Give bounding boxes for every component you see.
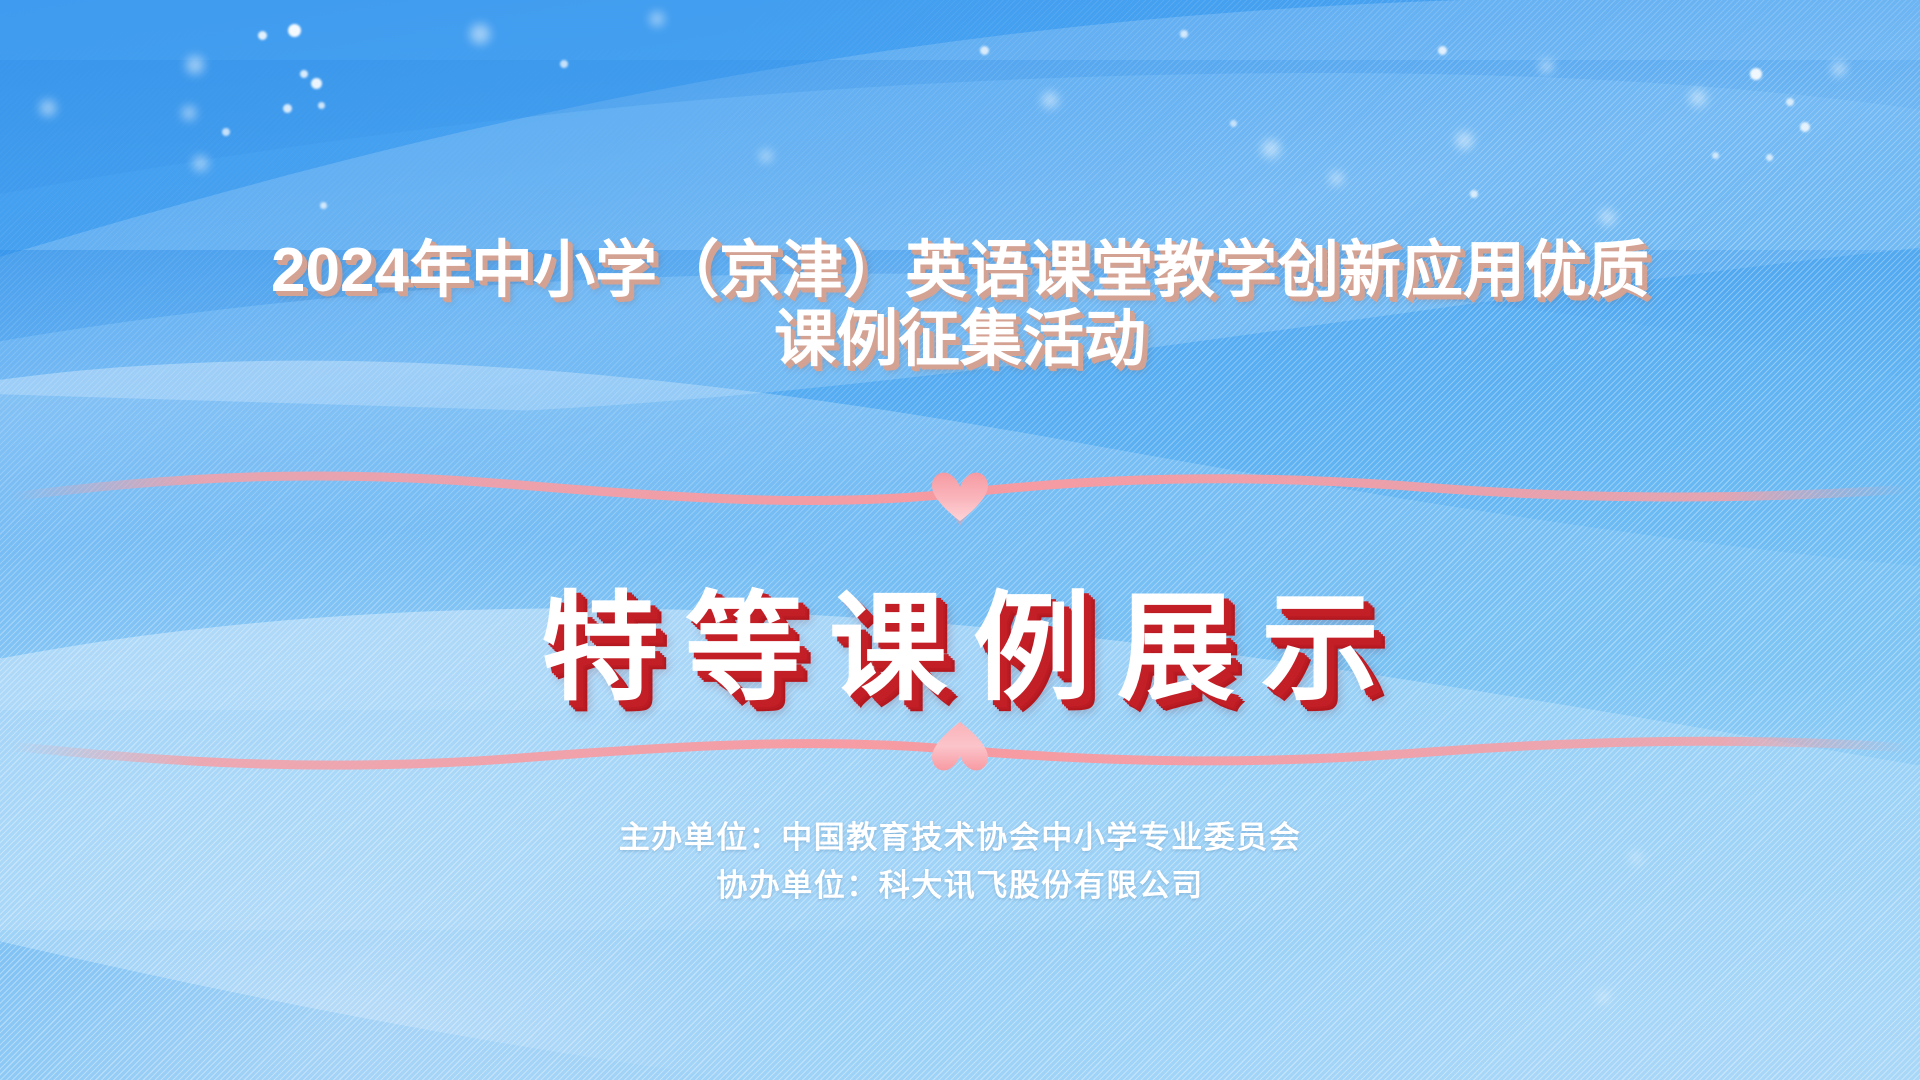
heart-icon: [932, 722, 988, 770]
subtitle-block: 2024年中小学（京津）英语课堂教学创新应用优质 课例征集活动: [0, 236, 1920, 375]
main-headline: 特等课例展示: [0, 552, 1920, 723]
co-organizer-line: 协办单位：科大讯飞股份有限公司: [0, 862, 1920, 910]
subtitle-line-2: 课例征集活动: [0, 305, 1920, 374]
divider-top: [0, 445, 1920, 535]
subtitle-line-1: 2024年中小学（京津）英语课堂教学创新应用优质: [0, 236, 1920, 305]
organizer-line: 主办单位：中国教育技术协会中小学专业委员会: [0, 814, 1920, 862]
footer-block: 主办单位：中国教育技术协会中小学专业委员会 协办单位：科大讯飞股份有限公司: [0, 814, 1920, 910]
slide-content: 2024年中小学（京津）英语课堂教学创新应用优质 课例征集活动: [0, 0, 1920, 1080]
divider-bottom: [0, 702, 1920, 792]
heart-icon: [932, 473, 988, 521]
presentation-slide: 2024年中小学（京津）英语课堂教学创新应用优质 课例征集活动: [0, 0, 1920, 1080]
